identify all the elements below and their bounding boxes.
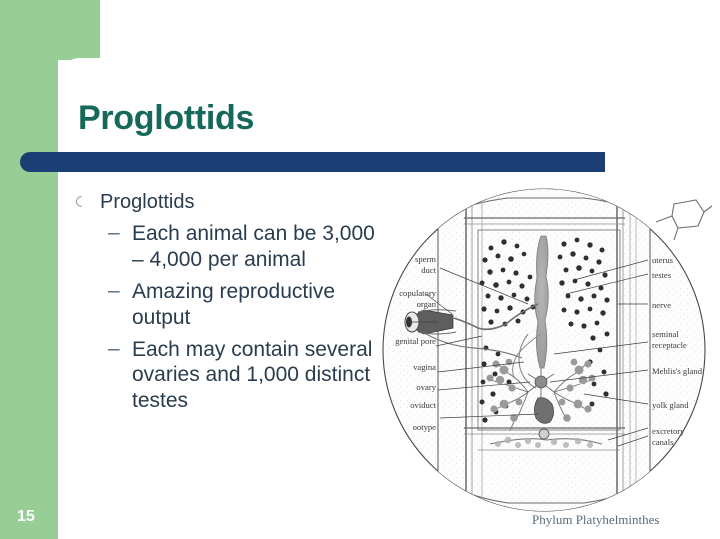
figure-label-receptacle: receptacle	[652, 340, 687, 350]
figure-label-ovary: ovary	[416, 382, 436, 392]
bullet-item-level2: – Each may contain several ovaries and 1…	[70, 337, 390, 413]
bullet-item-level1: Proglottids	[70, 190, 390, 214]
figure-label-excretory: excretory	[652, 426, 685, 436]
bullet-text: Proglottids	[100, 191, 195, 213]
slide: Proglottids Proglottids – Each animal ca…	[0, 0, 720, 539]
figure-caption: Phylum Platyhelminthes	[532, 512, 659, 528]
bullet-item-level2: – Each animal can be 3,000 – 4,000 per a…	[70, 221, 390, 272]
figure-label-vagina: vagina	[413, 362, 436, 372]
dash-bullet-icon: –	[108, 336, 120, 361]
figure-label-sperm: sperm	[415, 254, 436, 264]
page-title: Proglottids	[78, 101, 254, 135]
open-arc-bullet-icon	[74, 194, 90, 210]
bullet-item-level2: – Amazing reproductive output	[70, 279, 390, 330]
bullet-list: Proglottids – Each animal can be 3,000 –…	[70, 190, 390, 413]
bullet-text: Each animal can be 3,000 – 4,000 per ani…	[132, 222, 375, 270]
figure-label-oviduct: oviduct	[410, 400, 436, 410]
bullet-text: Amazing reproductive output	[132, 280, 335, 328]
figure-label-genital-pore: genital pore	[395, 336, 436, 346]
figure-label-duct: duct	[421, 265, 436, 275]
figure-label-seminal: seminal	[652, 329, 679, 339]
figure-label-nerve: nerve	[652, 300, 671, 310]
figure-label-testes: testes	[652, 270, 672, 280]
dash-bullet-icon: –	[108, 220, 120, 245]
bullet-text: Each may contain several ovaries and 1,0…	[132, 338, 372, 412]
green-accent-sidebar	[0, 0, 58, 539]
figure-label-copulatory: copulatory	[399, 288, 436, 298]
figure-label-mehlis-gland: Mehlis's gland	[652, 366, 703, 376]
title-rule	[20, 152, 605, 172]
proglottid-anatomy-figure: sperm duct copulatory organ genital pore…	[378, 182, 714, 522]
dash-bullet-icon: –	[108, 278, 120, 303]
slide-number: 15	[17, 508, 35, 526]
figure-label-uterus: uterus	[652, 255, 674, 265]
figure-label-organ: organ	[417, 299, 437, 309]
figure-label-ootype: ootype	[413, 422, 437, 432]
figure-label-yolk-gland: yolk gland	[652, 400, 689, 410]
figure-label-canals: canals	[652, 437, 674, 447]
